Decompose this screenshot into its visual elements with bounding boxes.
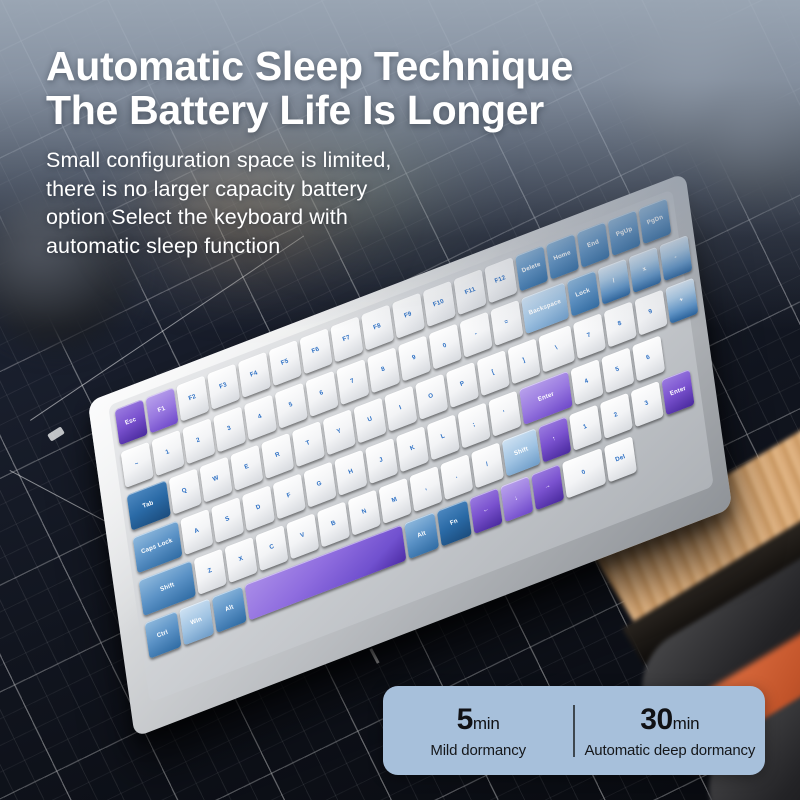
- keycap[interactable]: E: [230, 445, 263, 491]
- keycap-legend: 5: [288, 402, 294, 409]
- keycap-legend: Fn: [449, 519, 459, 528]
- keycap-legend: 3: [644, 401, 650, 408]
- keycap-legend: -: [474, 331, 478, 338]
- keycap[interactable]: ;: [458, 402, 491, 448]
- keycap-legend: ↑: [552, 436, 557, 443]
- keycap-legend: X: [238, 556, 244, 563]
- keycap-legend: P: [459, 381, 465, 388]
- keycap[interactable]: Enter: [661, 369, 694, 415]
- keycap[interactable]: ,: [409, 466, 442, 512]
- keycap-legend: Win: [190, 617, 203, 627]
- keycap-legend: 1: [165, 450, 171, 457]
- keycap[interactable]: S: [211, 497, 244, 543]
- keycap[interactable]: G: [304, 462, 337, 508]
- keycap[interactable]: L: [427, 414, 460, 460]
- keycap-legend: Alt: [224, 605, 234, 614]
- keycap-legend: ~: [134, 461, 140, 468]
- keycap[interactable]: H: [334, 450, 367, 496]
- keycap-legend: V: [300, 533, 306, 540]
- keycap[interactable]: W: [199, 456, 232, 502]
- keycap-legend: 7: [350, 379, 356, 386]
- keycap-legend: Y: [336, 429, 342, 436]
- keycap-legend: ↓: [514, 496, 519, 503]
- keycap-legend: C: [269, 544, 276, 551]
- keycap[interactable]: 1: [569, 405, 602, 451]
- keycap-legend: I: [399, 405, 403, 411]
- body-line-4: automatic sleep function: [46, 232, 466, 261]
- body-line-1: Small configuration space is limited,: [46, 146, 466, 175]
- keycap-legend: 4: [584, 379, 590, 386]
- keycap-legend: /: [486, 462, 490, 468]
- keycap-legend: W: [212, 476, 220, 484]
- keycap-legend: F7: [342, 335, 351, 344]
- keycap[interactable]: ↑: [538, 416, 571, 462]
- keycap-legend: 0: [581, 470, 587, 477]
- deep-dormancy-caption: Automatic deep dormancy: [584, 742, 755, 759]
- keycap-legend: 5: [615, 367, 621, 374]
- headline-line-1: Automatic Sleep Technique: [46, 44, 666, 88]
- keycap-legend: 7: [587, 333, 593, 340]
- keycap[interactable]: C: [255, 525, 288, 571]
- keycap-legend: ;: [472, 422, 476, 429]
- keycap-legend: F2: [188, 394, 197, 403]
- keycap-legend: 0: [442, 343, 448, 350]
- keycap[interactable]: Win: [179, 598, 214, 645]
- keycap[interactable]: Esc: [115, 399, 148, 445]
- keycap[interactable]: ←: [470, 488, 503, 534]
- keycap-legend: 2: [614, 412, 620, 419]
- deep-dormancy-number: 30: [640, 703, 672, 737]
- keycap-legend: O: [428, 393, 435, 401]
- keycap[interactable]: F1: [145, 387, 178, 433]
- keycap[interactable]: 0: [562, 448, 606, 499]
- keycap-legend: Q: [182, 488, 189, 496]
- keycap[interactable]: R: [261, 433, 294, 479]
- mild-dormancy-value: 5 min: [457, 703, 500, 737]
- keycap-legend: J: [379, 457, 385, 464]
- keycap-legend: Tab: [142, 501, 155, 511]
- body-line-2: there is no larger capacity battery: [46, 175, 466, 204]
- keycap-legend: Enter: [537, 392, 555, 404]
- keycap-legend: ]: [522, 358, 526, 365]
- keycap[interactable]: 4: [571, 359, 604, 405]
- body-copy: Small configuration space is limited, th…: [46, 146, 466, 260]
- keycap-legend: F1: [157, 406, 166, 415]
- keycap[interactable]: F4: [238, 352, 271, 398]
- page-title: Automatic Sleep Technique The Battery Li…: [46, 44, 666, 133]
- keycap-legend: Enter: [669, 386, 687, 398]
- deep-dormancy-value: 30 min: [640, 703, 699, 737]
- keycap-legend: 4: [258, 414, 264, 421]
- keycap[interactable]: O: [415, 374, 448, 420]
- keycap[interactable]: K: [396, 426, 429, 472]
- keycap-legend: D: [255, 505, 262, 512]
- keycap[interactable]: F: [273, 473, 306, 519]
- keycap[interactable]: 5: [275, 383, 308, 429]
- keycap-legend: Alt: [416, 531, 426, 540]
- keycap[interactable]: 0: [429, 323, 462, 369]
- keycap[interactable]: Del: [604, 436, 637, 482]
- keycap[interactable]: ]: [508, 338, 541, 384]
- keycap[interactable]: A: [180, 509, 213, 555]
- keycap-legend: .: [455, 474, 459, 480]
- keycap[interactable]: ~: [121, 442, 154, 488]
- keycap[interactable]: Alt: [212, 586, 247, 633]
- keycap-legend: F: [286, 493, 292, 500]
- keycap[interactable]: Shift: [502, 428, 541, 476]
- keycap-legend: [: [491, 370, 495, 377]
- keycap-legend: 8: [381, 367, 387, 374]
- keycap[interactable]: Z: [194, 549, 227, 595]
- keycap[interactable]: 5: [601, 347, 634, 393]
- body-line-3: option Select the keyboard with: [46, 203, 466, 232]
- keycap[interactable]: Ctrl: [145, 611, 182, 659]
- keycap[interactable]: ': [488, 391, 521, 437]
- keycap[interactable]: /: [471, 442, 504, 488]
- keycap[interactable]: Alt: [404, 512, 439, 559]
- keycap[interactable]: F5: [269, 340, 302, 386]
- keycap[interactable]: 4: [244, 394, 277, 440]
- mild-dormancy-caption: Mild dormancy: [430, 742, 526, 759]
- keycap-legend: T: [305, 441, 311, 448]
- keycap[interactable]: 2: [600, 393, 633, 439]
- keycap-legend: →: [544, 483, 552, 491]
- keycap[interactable]: 8: [367, 347, 400, 393]
- keycap-legend: U: [367, 417, 374, 424]
- keycap-legend: 1: [583, 424, 589, 431]
- keycap-legend: 2: [196, 438, 202, 445]
- keycap-legend: N: [361, 509, 368, 516]
- keycap-legend: 9: [412, 355, 418, 362]
- keycap[interactable]: I: [384, 386, 417, 432]
- keycap[interactable]: V: [286, 513, 319, 559]
- deep-dormancy-stat: 30 min Automatic deep dormancy: [575, 703, 765, 759]
- keycap[interactable]: 1: [151, 430, 184, 476]
- deep-dormancy-unit: min: [673, 714, 700, 734]
- keycap[interactable]: P: [446, 362, 479, 408]
- keycap[interactable]: 3: [631, 381, 664, 427]
- keycap-legend: ': [503, 411, 507, 417]
- keycap-legend: ,: [424, 486, 428, 492]
- keycap-legend: R: [274, 452, 281, 459]
- keycap[interactable]: Q: [169, 468, 202, 514]
- keycap-legend: Shift: [513, 447, 529, 458]
- card-divider: [573, 705, 574, 757]
- headline-line-2: The Battery Life Is Longer: [46, 88, 666, 132]
- keycap[interactable]: U: [354, 397, 387, 443]
- keycap-legend: Z: [207, 568, 213, 575]
- keycap-legend: Shift: [159, 583, 175, 594]
- keycap-legend: 3: [227, 426, 233, 433]
- mild-dormancy-stat: 5 min Mild dormancy: [383, 703, 573, 759]
- keycap-legend: Del: [615, 455, 627, 464]
- keycap[interactable]: X: [225, 537, 258, 583]
- keycap-legend: M: [391, 497, 398, 505]
- keycap[interactable]: N: [348, 490, 381, 536]
- keycap[interactable]: ↓: [500, 476, 533, 522]
- keycap-legend: F4: [250, 371, 259, 380]
- product-banner: EscF1F2F3F4F5F6F7F8F9F10F11F12DeleteHome…: [0, 0, 800, 800]
- keycap[interactable]: 6: [632, 335, 665, 381]
- keycap-legend: B: [330, 521, 337, 528]
- keycap-legend: F3: [219, 382, 228, 391]
- keycap-legend: 6: [646, 355, 652, 362]
- keycap[interactable]: Y: [323, 409, 356, 455]
- keycap[interactable]: 2: [182, 418, 215, 464]
- keycap-legend: K: [409, 445, 416, 452]
- keycap[interactable]: D: [242, 485, 275, 531]
- keycap-legend: F5: [281, 359, 290, 368]
- keycap[interactable]: T: [292, 421, 325, 467]
- keycap-legend: A: [193, 528, 200, 535]
- keycap-legend: E: [244, 464, 250, 471]
- keycap[interactable]: 9: [398, 335, 431, 381]
- keycap-legend: ←: [482, 507, 490, 515]
- keycap-legend: F6: [311, 347, 320, 356]
- keycap-legend: Caps Lock: [141, 538, 174, 556]
- keycap[interactable]: F2: [176, 375, 209, 421]
- keycap[interactable]: J: [365, 438, 398, 484]
- keycap[interactable]: Tab: [127, 480, 171, 531]
- keycap[interactable]: \: [538, 325, 575, 373]
- keycap-legend: 6: [319, 390, 325, 397]
- keycap[interactable]: →: [531, 464, 564, 510]
- keycap[interactable]: .: [440, 454, 473, 500]
- mild-dormancy-number: 5: [457, 703, 473, 737]
- keycap[interactable]: M: [379, 478, 412, 524]
- keycap[interactable]: [: [477, 350, 510, 396]
- keycap-legend: H: [348, 469, 355, 476]
- keycap[interactable]: B: [317, 501, 350, 547]
- keycap-legend: Esc: [125, 417, 138, 427]
- keycap[interactable]: 6: [306, 371, 339, 417]
- keycap-legend: G: [317, 481, 324, 489]
- keycap-legend: Ctrl: [157, 630, 170, 640]
- keycap[interactable]: F3: [207, 364, 240, 410]
- keycap[interactable]: F6: [300, 328, 333, 374]
- keycap-legend: S: [224, 516, 230, 523]
- keycap-legend: \: [555, 346, 559, 352]
- dormancy-info-card: 5 min Mild dormancy 30 min Automatic dee…: [383, 686, 765, 775]
- mild-dormancy-unit: min: [473, 714, 500, 734]
- keycap[interactable]: 7: [336, 359, 369, 405]
- keycap-legend: L: [440, 434, 446, 441]
- keycap[interactable]: 3: [213, 406, 246, 452]
- keycap[interactable]: Fn: [437, 500, 472, 547]
